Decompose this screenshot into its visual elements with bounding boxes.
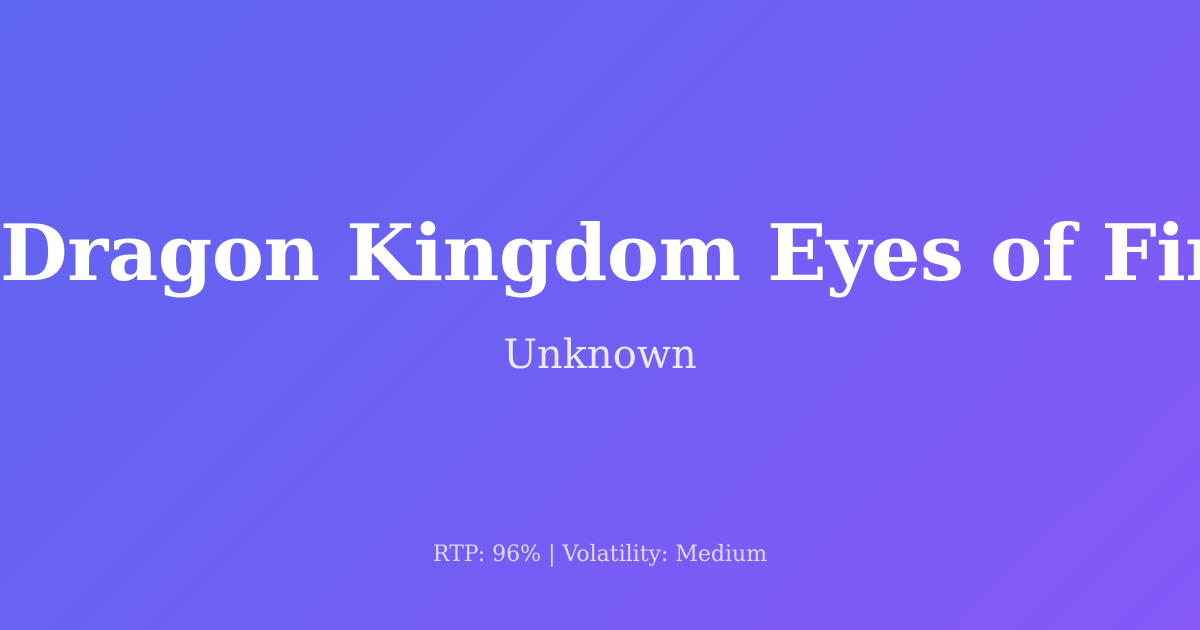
card-content-stack: Dragon Kingdom Eyes of Fire Unknown xyxy=(0,213,1200,380)
page-title: Dragon Kingdom Eyes of Fire xyxy=(0,213,1200,296)
game-stats-line: RTP: 96% | Volatility: Medium xyxy=(0,541,1200,570)
og-share-card: Dragon Kingdom Eyes of Fire Unknown RTP:… xyxy=(0,0,1200,630)
game-provider-label: Unknown xyxy=(503,331,697,379)
